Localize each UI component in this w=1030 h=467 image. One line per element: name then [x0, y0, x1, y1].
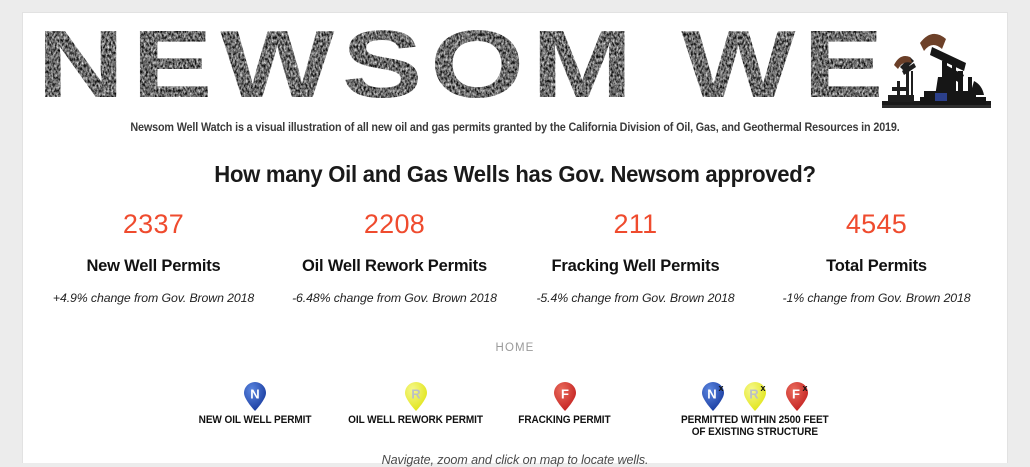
svg-text:R: R [411, 386, 421, 401]
legend-item-fracking-permit: F FRACKING PERMIT [502, 382, 627, 426]
svg-text:F: F [792, 386, 800, 401]
legend-pin-group: R [339, 382, 492, 412]
svg-text:R: R [749, 386, 759, 401]
stat-card-new-well-permits: 2337 New Well Permits +4.9% change from … [33, 210, 274, 305]
stat-change: +4.9% change from Gov. Brown 2018 [39, 291, 268, 305]
legend-item-permitted-within-2500-feet: N x R x F [627, 382, 849, 438]
svg-text:x: x [760, 383, 765, 393]
stat-label: Fracking Well Permits [521, 257, 750, 276]
legend-pin-group: N [191, 382, 319, 412]
svg-text:NEWSOM WELL WATCH: NEWSOM WELL WATCH [37, 21, 880, 113]
map-instructions: Navigate, zoom and click on map to locat… [23, 453, 1007, 467]
svg-text:F: F [561, 386, 569, 401]
stats-row: 2337 New Well Permits +4.9% change from … [33, 210, 997, 305]
svg-text:N: N [251, 386, 260, 401]
legend-caption: OIL WELL REWORK PERMIT [348, 414, 483, 426]
page-headline: How many Oil and Gas Wells has Gov. News… [43, 161, 988, 188]
site-wordmark: NEWSOM WELL WATCH [37, 21, 880, 113]
stat-value: 211 [521, 210, 750, 240]
page-root: NEWSOM WELL WATCH [0, 0, 1030, 463]
map-pin-new-oil-well-icon: N [242, 382, 268, 412]
svg-text:x: x [802, 383, 807, 393]
legend-caption: NEW OIL WELL PERMIT [199, 414, 312, 426]
legend-item-oil-well-rework-permit: R OIL WELL REWORK PERMIT [329, 382, 502, 426]
svg-text:x: x [718, 383, 723, 393]
oil-pumpjack-illustration [880, 21, 993, 113]
content-card: NEWSOM WELL WATCH [22, 12, 1008, 463]
map-pin-oil-well-rework-flagged-icon: R x [742, 382, 768, 412]
stat-change: -1% change from Gov. Brown 2018 [762, 291, 991, 305]
svg-text:N: N [707, 386, 716, 401]
stat-label: Oil Well Rework Permits [280, 257, 509, 276]
legend-caption-line-2: OF EXISTING STRUCTURE [681, 426, 829, 438]
stat-value: 2337 [39, 210, 268, 240]
map-pin-fracking-icon: F [552, 382, 578, 412]
stat-label: New Well Permits [39, 257, 268, 276]
stat-card-total-permits: 4545 Total Permits -1% change from Gov. … [756, 210, 997, 305]
nav-link-home[interactable]: HOME [496, 342, 535, 354]
legend-caption: FRACKING PERMIT [519, 414, 611, 426]
map-pin-new-oil-well-flagged-icon: N x [700, 382, 726, 412]
map-legend: N NEW OIL WELL PERMIT [23, 382, 1007, 438]
map-pin-oil-well-rework-icon: R [403, 382, 429, 412]
masthead: NEWSOM WELL WATCH [37, 21, 993, 118]
stat-value: 2208 [280, 210, 509, 240]
stat-value: 4545 [762, 210, 991, 240]
stat-card-fracking-well-permits: 211 Fracking Well Permits -5.4% change f… [515, 210, 756, 305]
map-pin-fracking-flagged-icon: F x [784, 382, 810, 412]
primary-nav: HOME [23, 338, 1007, 356]
stat-change: -6.48% change from Gov. Brown 2018 [280, 291, 509, 305]
legend-caption-line-1: PERMITTED WITHIN 2500 FEET [681, 414, 829, 426]
stat-card-oil-well-rework-permits: 2208 Oil Well Rework Permits -6.48% chan… [274, 210, 515, 305]
legend-pin-group: N x R x F [671, 382, 839, 412]
stat-label: Total Permits [762, 257, 991, 276]
stat-change: -5.4% change from Gov. Brown 2018 [521, 291, 750, 305]
legend-item-new-oil-well-permit: N NEW OIL WELL PERMIT [181, 382, 329, 426]
legend-pin-group: F [512, 382, 617, 412]
site-tagline: Newsom Well Watch is a visual illustrati… [57, 121, 972, 134]
legend-caption-grouped: PERMITTED WITHIN 2500 FEET OF EXISTING S… [681, 414, 829, 438]
